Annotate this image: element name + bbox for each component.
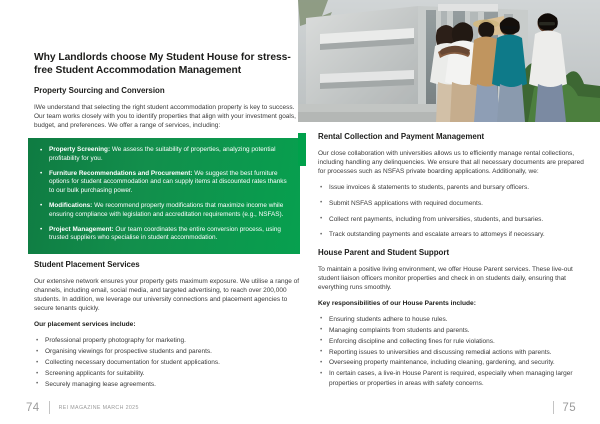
placement-services-lead: Our placement services include:	[34, 320, 300, 329]
rental-list: Issue invoices & statements to students,…	[318, 183, 584, 239]
page-title: Why Landlords choose My Student House fo…	[34, 52, 300, 77]
list-item: Managing complaints from students and pa…	[318, 326, 584, 336]
left-column: Why Landlords choose My Student House fo…	[34, 52, 300, 137]
section-heading-house-parent: House Parent and Student Support	[318, 248, 584, 258]
house-parent-lead: Key responsibilities of our House Parent…	[318, 299, 584, 308]
left-column-lower: Student Placement Services Our extensive…	[34, 260, 300, 391]
rental-paragraph: Our close collaboration with universitie…	[318, 149, 584, 176]
placement-services-list: Professional property photography for ma…	[34, 336, 300, 389]
section-heading-student-placement: Student Placement Services	[34, 260, 300, 270]
green-accent-bar	[298, 133, 306, 166]
magazine-imprint: REI MAGAZINE MARCH 2025	[59, 405, 139, 411]
list-item: Collecting necessary documentation for s…	[34, 358, 300, 368]
list-item: Track outstanding payments and escalate …	[318, 230, 584, 239]
list-item: Professional property photography for ma…	[34, 336, 300, 346]
callout-list: Property Screening: We assess the suitab…	[38, 146, 288, 243]
list-item: Issue invoices & statements to students,…	[318, 183, 584, 192]
house-parent-list: Ensuring students adhere to house rules.…	[318, 315, 584, 389]
list-item: Collect rent payments, including from un…	[318, 215, 584, 224]
callout-item-label: Project Management:	[49, 226, 114, 233]
footer-divider	[49, 401, 50, 414]
hero-photo	[298, 0, 600, 122]
footer-divider	[553, 401, 554, 414]
callout-item-label: Property Screening:	[49, 146, 110, 153]
list-item: Screening applicants for suitability.	[34, 369, 300, 379]
green-callout-box: Property Screening: We assess the suitab…	[28, 138, 300, 254]
list-item: Enforcing discipline and collecting fine…	[318, 337, 584, 347]
magazine-spread: Why Landlords choose My Student House fo…	[0, 0, 600, 424]
placement-paragraph: Our extensive network ensures your prope…	[34, 277, 300, 313]
house-parent-paragraph: To maintain a positive living environmen…	[318, 265, 584, 292]
callout-item-label: Modifications:	[49, 202, 92, 209]
right-column: Rental Collection and Payment Management…	[318, 132, 584, 390]
section-heading-rental-collection: Rental Collection and Payment Management	[318, 132, 584, 142]
list-item: Ensuring students adhere to house rules.	[318, 315, 584, 325]
list-item: Securely managing lease agreements.	[34, 380, 300, 390]
intro-paragraph: IWe understand that selecting the right …	[34, 103, 300, 130]
section-heading-property-sourcing: Property Sourcing and Conversion	[34, 86, 300, 96]
page-number-left: 74	[26, 402, 40, 414]
list-item: Reporting issues to universities and dis…	[318, 348, 584, 358]
list-item: In certain cases, a live-in House Parent…	[318, 369, 584, 388]
footer-right: 75	[553, 401, 576, 414]
list-item: Submit NSFAS applications with required …	[318, 199, 584, 208]
page-number-right: 75	[562, 402, 576, 414]
list-item: Property Screening: We assess the suitab…	[38, 146, 288, 163]
list-item: Overseeing property maintenance, includi…	[318, 358, 584, 368]
list-item: Modifications: We recommend property mod…	[38, 202, 288, 219]
hero-photo-illustration	[298, 0, 600, 122]
list-item: Furniture Recommendations and Procuremen…	[38, 170, 288, 196]
callout-item-label: Furniture Recommendations and Procuremen…	[49, 170, 192, 177]
list-item: Project Management: Our team coordinates…	[38, 226, 288, 243]
list-item: Organising viewings for prospective stud…	[34, 347, 300, 357]
footer-left: 74 REI MAGAZINE MARCH 2025	[26, 401, 139, 414]
